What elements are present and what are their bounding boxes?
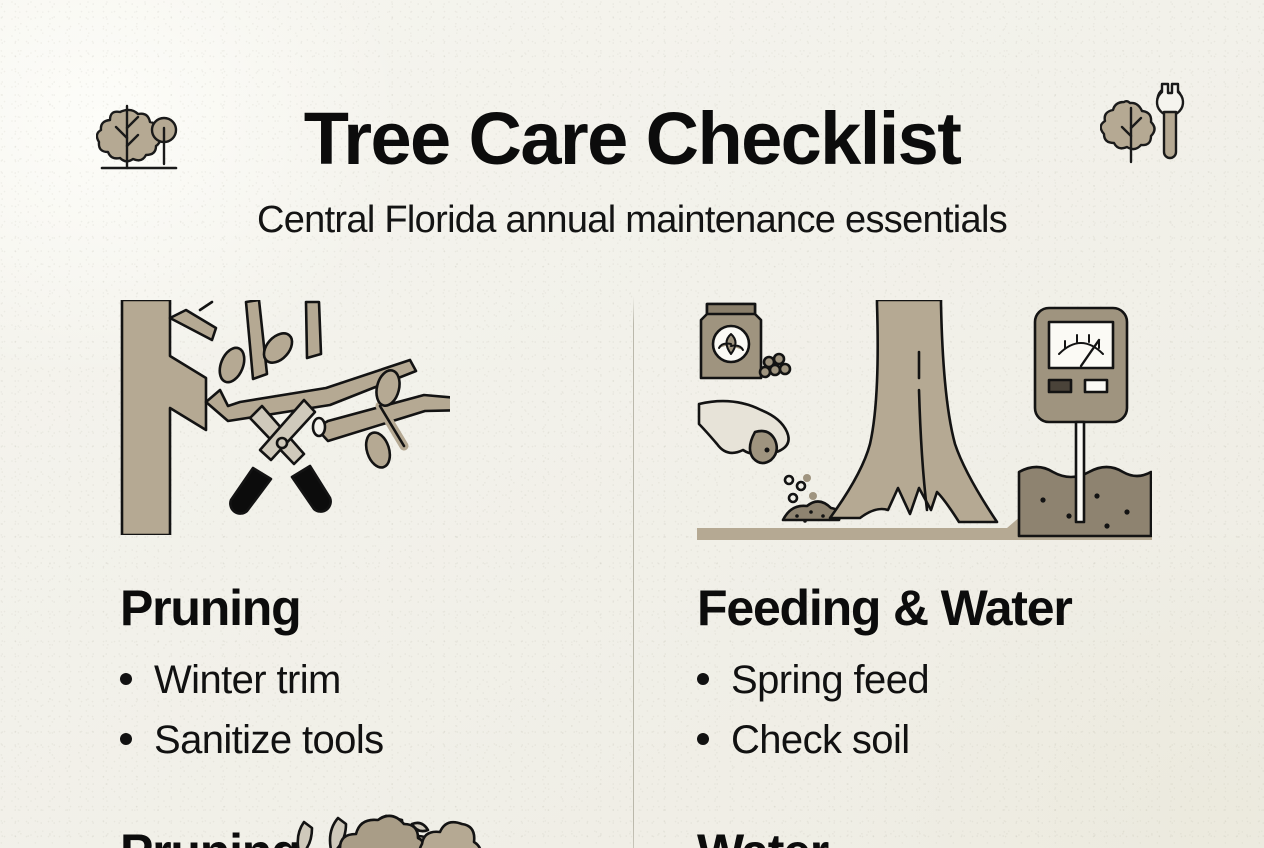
list-item-label: Winter trim [154,650,341,710]
list-item-label: Check soil [731,710,910,770]
bullet-dot-icon [120,733,132,745]
checklist-pruning: Winter trim Sanitize tools [120,650,590,770]
branch-with-pruning-shears-illustration [120,300,590,540]
fertilizer-hand-trunk-and-soil-meter-illustration [697,300,1167,540]
card-title-water: Water [697,822,828,848]
card-feeding-water: Feeding & Water Spring feed Check soil [697,300,1167,770]
card-title-pruning: Pruning [120,578,590,638]
tree-canopy-illustration [320,800,530,848]
card-title-pruning-2: Pruning [120,822,300,848]
bottom-row-clipped: Pruning Water [0,800,1264,848]
bullet-dot-icon [697,673,709,685]
bullet-dot-icon [120,673,132,685]
list-item[interactable]: Winter trim [120,650,590,710]
list-item-label: Spring feed [731,650,929,710]
card-pruning-2: Pruning [120,800,300,848]
checklist-feeding-water: Spring feed Check soil [697,650,1167,770]
bullet-dot-icon [697,733,709,745]
column-divider [633,296,634,848]
list-item[interactable]: Check soil [697,710,1167,770]
list-item[interactable]: Sanitize tools [120,710,590,770]
list-item[interactable]: Spring feed [697,650,1167,710]
poster-header: Tree Care Checklist Central Florida annu… [0,0,1264,280]
card-title-feeding-water: Feeding & Water [697,578,1167,638]
card-water: Water [697,800,828,848]
card-pruning: Pruning Winter trim Sanitize tools [120,300,590,770]
page-title: Tree Care Checklist [0,96,1264,182]
poster-canvas: Tree Care Checklist Central Florida annu… [0,0,1264,848]
list-item-label: Sanitize tools [154,710,384,770]
page-subtitle: Central Florida annual maintenance essen… [0,196,1264,244]
